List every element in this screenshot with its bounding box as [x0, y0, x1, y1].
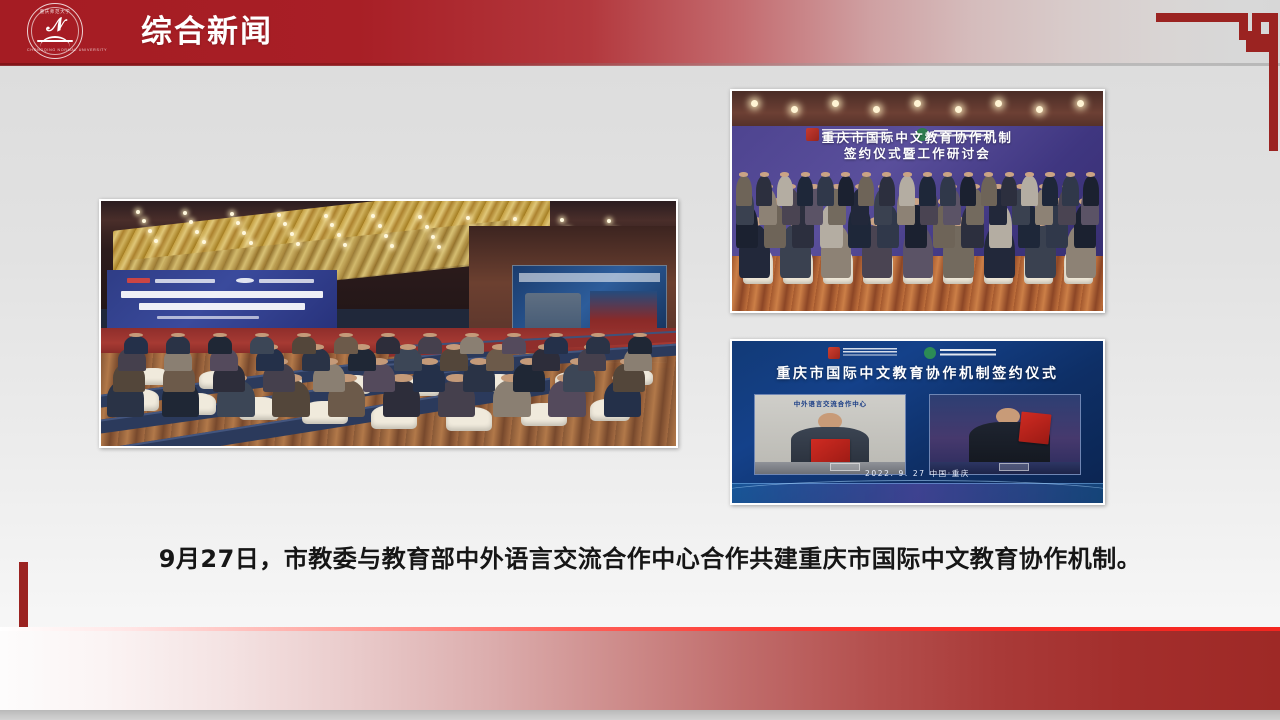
attendee-head	[591, 333, 605, 337]
ceiling-light	[751, 100, 758, 107]
attendee	[250, 336, 274, 354]
group-member-head	[1005, 172, 1014, 176]
group-member-head	[1066, 172, 1075, 176]
group-member-head	[821, 172, 830, 176]
group-member	[756, 176, 772, 206]
group-member	[777, 176, 793, 206]
group-member	[858, 176, 874, 206]
decorative-corner-top-right-icon	[1150, 4, 1280, 156]
attendee	[460, 336, 484, 354]
ceiling-light	[202, 240, 206, 244]
ceiling-light	[431, 235, 435, 239]
group-member	[1001, 176, 1017, 206]
language-center-logo-text	[843, 348, 897, 357]
attendee	[586, 336, 610, 354]
group-member	[1042, 176, 1058, 206]
banner-title-line-2	[139, 303, 305, 310]
group-photo-banner-title: 重庆市国际中文教育协作机制 签约仪式暨工作研讨会	[754, 130, 1080, 162]
hall-attendees	[101, 324, 676, 447]
ceiling-light	[466, 216, 470, 220]
group-member-head	[1025, 172, 1034, 176]
education-commission-logo-icon	[924, 347, 936, 359]
ceiling-light	[371, 214, 375, 218]
ceiling-light	[154, 239, 158, 243]
attendee	[418, 336, 442, 354]
group-member	[960, 176, 976, 206]
ceiling-light	[995, 100, 1002, 107]
ceiling-light	[873, 106, 880, 113]
attendee-head	[171, 333, 185, 337]
ceiling-light	[148, 229, 152, 233]
ceiling-light	[437, 245, 441, 249]
ceiling-light	[914, 100, 921, 107]
signing-ceremony-content: 重庆市国际中文教育协作机制签约仪式 中外语言交流合作中心 2022. 9. 27…	[732, 341, 1103, 503]
footer-gradient-bar	[0, 627, 1280, 710]
ceiling-light	[1077, 100, 1084, 107]
ceiling-light	[560, 218, 564, 222]
ceiling-light	[1036, 106, 1043, 113]
attendee-head	[549, 333, 563, 337]
group-photo[interactable]: 重庆市国际中文教育协作机制 签约仪式暨工作研讨会	[730, 89, 1105, 313]
group-member-head	[862, 172, 871, 176]
signing-ceremony-photo[interactable]: 重庆市国际中文教育协作机制签约仪式 中外语言交流合作中心 2022. 9. 27…	[730, 339, 1105, 505]
signing-wave-decoration	[732, 483, 1103, 503]
ceiling-light	[384, 234, 388, 238]
conference-hall-photo-content	[101, 201, 676, 446]
seal-monogram-icon: 𝒩	[27, 16, 83, 35]
ceiling-light	[136, 210, 140, 214]
group-member-head	[903, 172, 912, 176]
signing-title: 重庆市国际中文教育协作机制签约仪式	[743, 365, 1092, 383]
group-member-head	[739, 172, 748, 176]
ceiling-light	[290, 232, 294, 236]
group-member	[879, 176, 895, 206]
attendee-head	[339, 333, 353, 337]
attendee	[124, 336, 148, 354]
group-banner-line-2: 签约仪式暨工作研讨会	[754, 146, 1080, 162]
ceiling-light	[324, 214, 328, 218]
signing-logos	[828, 347, 1014, 360]
attendee-head	[129, 333, 143, 337]
ceiling-light	[230, 212, 234, 216]
ceiling-light	[242, 231, 246, 235]
attendee	[628, 336, 652, 354]
group-member	[899, 176, 915, 206]
group-member	[919, 176, 935, 206]
attendee	[208, 336, 232, 354]
group-member-head	[1045, 172, 1054, 176]
group-member-head	[964, 172, 973, 176]
ceiling-light	[249, 241, 253, 245]
ceiling-light	[378, 224, 382, 228]
attendee	[544, 336, 568, 354]
ceiling-light	[195, 230, 199, 234]
ceiling-light	[330, 223, 334, 227]
attendee-head	[381, 333, 395, 337]
signing-left-pane-label: 中外语言交流合作中心	[755, 398, 905, 408]
slide-caption: 9月27日，市教委与教育部中外语言交流合作中心合作共建重庆市国际中文教育协作机制…	[60, 541, 1240, 577]
group-member-head	[841, 172, 850, 176]
ceiling-light	[791, 106, 798, 113]
banner-date-line	[157, 316, 258, 319]
group-member	[838, 176, 854, 206]
page-title: 综合新闻	[141, 12, 273, 52]
attendee	[376, 336, 400, 354]
ceiling-light	[189, 220, 193, 224]
news-slide: 重庆师范大学 𝒩 CHONGQING NORMAL UNIVERSITY 综合新…	[0, 0, 1280, 720]
seal-bottom-text: CHONGQING NORMAL UNIVERSITY	[27, 48, 83, 52]
attendee-head	[423, 333, 437, 337]
attendee-head	[400, 344, 416, 350]
attendee-head	[420, 358, 439, 365]
group-member-head	[1086, 172, 1095, 176]
group-photo-ceiling	[732, 91, 1103, 131]
banner-title-line-1	[121, 291, 323, 298]
group-member	[736, 176, 752, 206]
ceiling-light	[142, 219, 146, 223]
ceiling-light	[425, 225, 429, 229]
signing-right-pane	[929, 394, 1081, 475]
group-member-head	[760, 172, 769, 176]
attendee-head	[297, 333, 311, 337]
seal-book-base-icon	[37, 40, 73, 42]
ceiling-light	[832, 100, 839, 107]
attendee	[166, 336, 190, 354]
group-member	[981, 176, 997, 206]
ceiling-light	[513, 217, 517, 221]
signing-left-pane: 中外语言交流合作中心	[754, 394, 906, 475]
university-seal-logo: 重庆师范大学 𝒩 CHONGQING NORMAL UNIVERSITY	[27, 3, 87, 63]
footer-highlight-line	[0, 627, 1280, 631]
ceiling-light	[283, 222, 287, 226]
signing-date-line: 2022. 9. 27 中国·重庆	[732, 468, 1103, 479]
group-photo-people	[732, 166, 1103, 280]
attendee-head	[633, 333, 647, 337]
group-photo-content: 重庆市国际中文教育协作机制 签约仪式暨工作研讨会	[732, 91, 1103, 311]
ceiling-light	[607, 219, 611, 223]
group-member	[1062, 176, 1078, 206]
attendee	[334, 336, 358, 354]
education-commission-logo-text	[940, 349, 996, 357]
group-member	[940, 176, 956, 206]
group-member	[817, 176, 833, 206]
group-member	[1021, 176, 1037, 206]
ceiling-light	[277, 213, 281, 217]
ceiling-light	[390, 244, 394, 248]
ceiling-light	[955, 106, 962, 113]
ceiling-light	[236, 221, 240, 225]
group-member-head	[943, 172, 952, 176]
ceiling-light	[343, 243, 347, 247]
conference-hall-photo[interactable]	[99, 199, 678, 448]
ceiling-light	[337, 233, 341, 237]
ceiling-light	[183, 211, 187, 215]
footer-base-strip	[0, 710, 1280, 720]
group-member-head	[780, 172, 789, 176]
banner-logo-a	[127, 278, 150, 284]
group-banner-line-1: 重庆市国际中文教育协作机制	[754, 130, 1080, 146]
attendee-head	[213, 333, 227, 337]
attendee-head	[507, 333, 521, 337]
attendee-head	[465, 333, 479, 337]
signed-document-right	[1018, 411, 1051, 444]
banner-logo-b	[236, 278, 254, 284]
group-member-head	[801, 172, 810, 176]
ceiling-light	[418, 215, 422, 219]
attendee-head	[255, 333, 269, 337]
group-member-head	[923, 172, 932, 176]
banner-logo-b-text	[259, 279, 314, 283]
attendee	[292, 336, 316, 354]
group-member-head	[984, 172, 993, 176]
ceiling-light	[296, 242, 300, 246]
attendee	[502, 336, 526, 354]
group-member	[1083, 176, 1099, 206]
language-center-logo-icon	[828, 347, 840, 359]
led-screen-title-bar	[519, 273, 660, 282]
group-member	[797, 176, 813, 206]
group-member-head	[882, 172, 891, 176]
header-underline	[0, 63, 1280, 66]
banner-logo-a-text	[155, 279, 215, 283]
